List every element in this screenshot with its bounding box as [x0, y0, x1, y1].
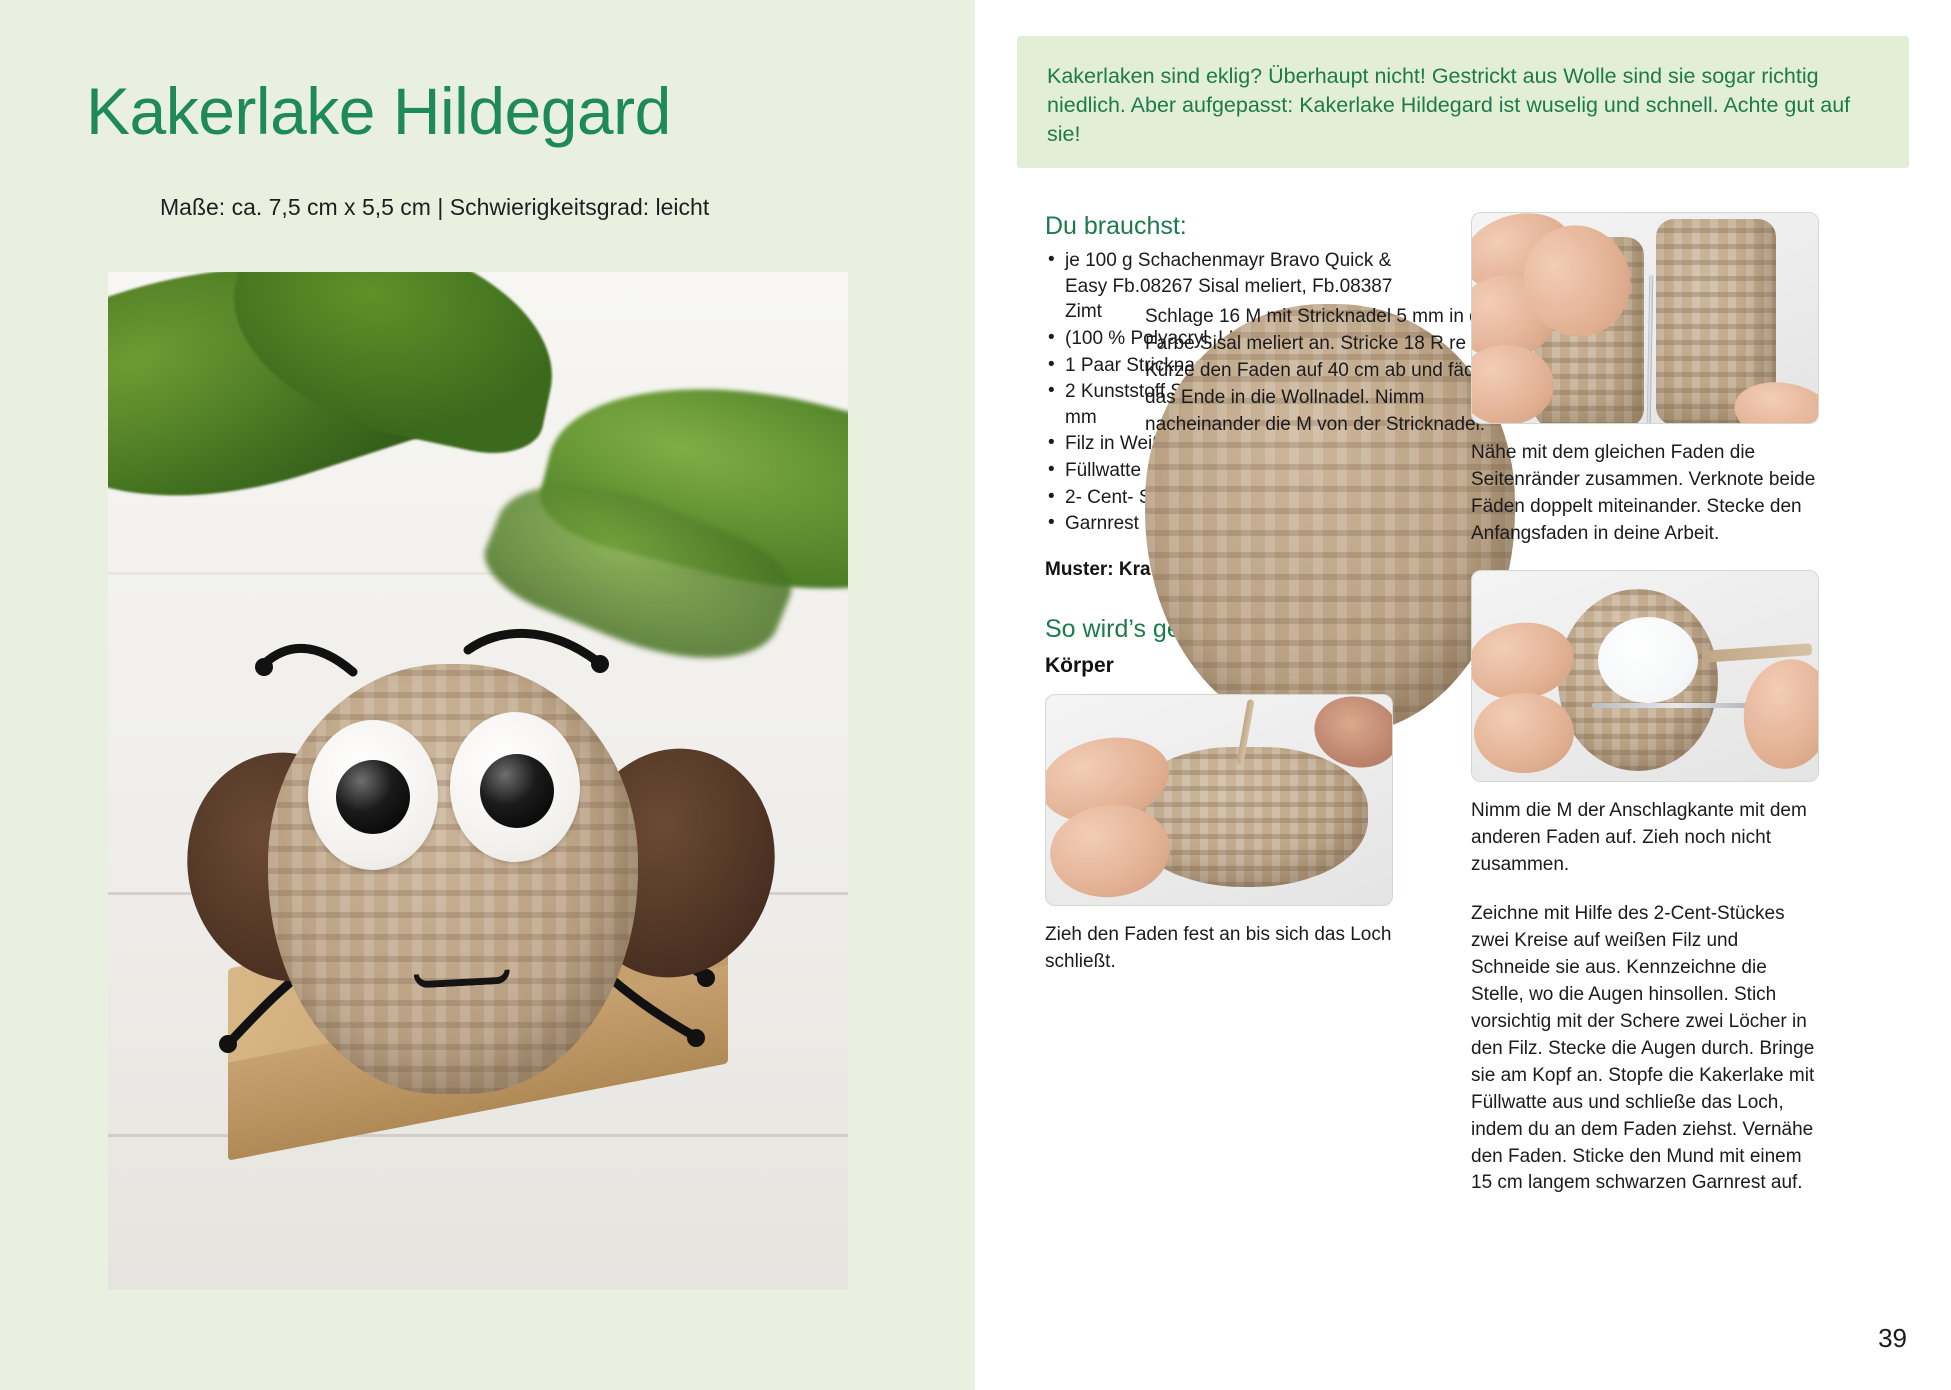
photo-step2	[1471, 570, 1819, 782]
photo-step1	[1471, 212, 1819, 424]
photo-step3	[1045, 694, 1393, 906]
plank-line	[108, 1134, 848, 1137]
hero-photo	[108, 272, 848, 1290]
column-steps: Nähe mit dem gleichen Faden die Seitenrä…	[1471, 212, 1819, 1197]
knitted-cockroach	[168, 572, 788, 1132]
intro-box: Kakerlaken sind eklig? Überhaupt nicht! …	[1017, 36, 1909, 168]
right-page: Kakerlaken sind eklig? Überhaupt nicht! …	[975, 0, 1951, 1390]
materials-heading: Du brauchst:	[1045, 212, 1393, 241]
column-materials: Du brauchst: je 100 g Schachenmayr Bravo…	[1045, 212, 1393, 976]
left-page: Kakerlake Hildegard Maße: ca. 7,5 cm x 5…	[0, 0, 975, 1390]
finger	[1474, 693, 1574, 773]
page-title: Kakerlake Hildegard	[86, 78, 671, 144]
page-number: 39	[1878, 1323, 1907, 1354]
book-spread: Kakerlake Hildegard Maße: ca. 7,5 cm x 5…	[0, 0, 1951, 1390]
body-instructions: Schlage 16 M mit Stricknadel 5 mm in der…	[1145, 304, 1515, 734]
stuffing-wadding	[1598, 617, 1698, 703]
safety-eye-left	[336, 760, 410, 834]
bug-body	[268, 664, 638, 1094]
needle	[1592, 703, 1762, 708]
caption-step2: Nimm die M der Anschlagkante mit dem and…	[1471, 798, 1819, 879]
intro-text: Kakerlaken sind eklig? Überhaupt nicht! …	[1047, 62, 1879, 148]
caption-step3: Zieh den Faden fest an bis sich das Loch…	[1045, 922, 1393, 976]
page-subtitle: Maße: ca. 7,5 cm x 5,5 cm | Schwierigkei…	[160, 194, 709, 221]
final-paragraph: Zeichne mit Hilfe des 2-Cent-Stückes zwe…	[1471, 901, 1819, 1198]
caption-step1: Nähe mit dem gleichen Faden die Seitenrä…	[1471, 440, 1819, 548]
safety-eye-right	[480, 754, 554, 828]
